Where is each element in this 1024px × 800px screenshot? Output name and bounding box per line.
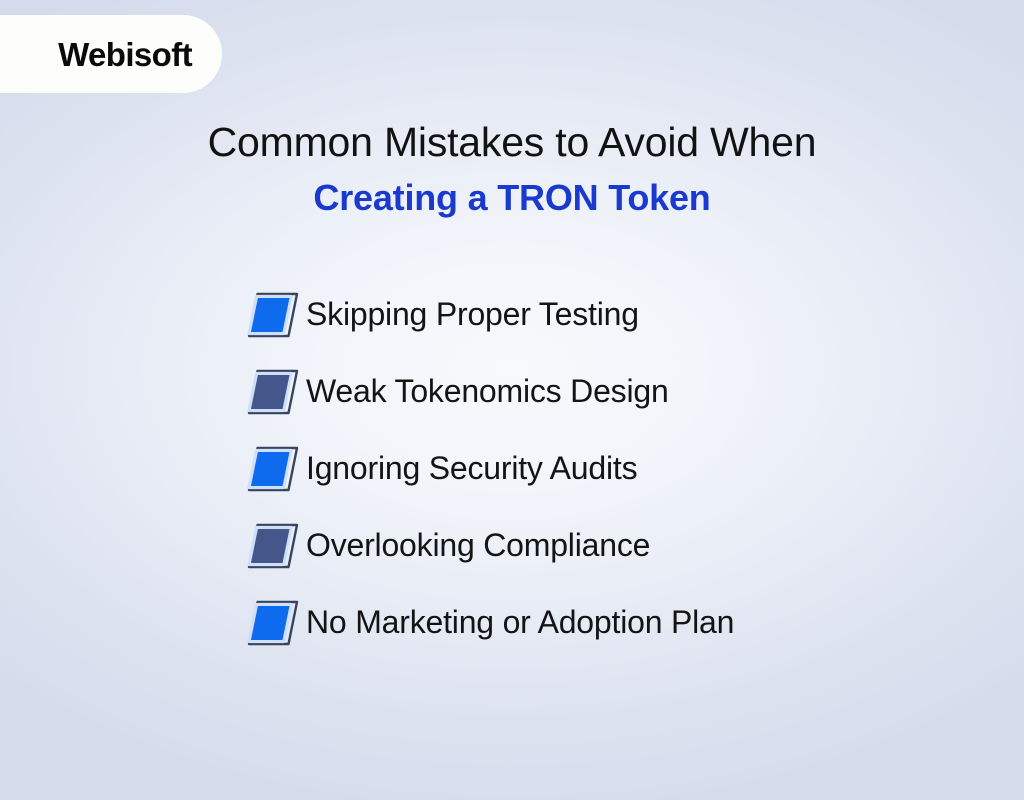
parallelogram-icon	[244, 442, 306, 496]
slide-canvas: Webisoft Common Mistakes to Avoid When C…	[0, 0, 1024, 800]
parallelogram-icon	[244, 288, 306, 342]
list-item-label: No Marketing or Adoption Plan	[306, 605, 734, 640]
list-item-label: Weak Tokenomics Design	[306, 374, 669, 409]
parallelogram-icon	[244, 596, 306, 650]
mistakes-list: Skipping Proper Testing Weak Tokenomics …	[244, 285, 944, 653]
list-item: Ignoring Security Audits	[244, 439, 944, 499]
list-item-label: Overlooking Compliance	[306, 528, 650, 563]
parallelogram-icon	[244, 519, 306, 573]
list-item: Skipping Proper Testing	[244, 285, 944, 345]
brand-logo-pill: Webisoft	[0, 15, 222, 93]
page-title-line-1: Common Mistakes to Avoid When	[0, 118, 1024, 166]
page-title-line-2: Creating a TRON Token	[0, 176, 1024, 219]
page-title: Common Mistakes to Avoid When Creating a…	[0, 118, 1024, 220]
brand-wordmark: Webisoft	[58, 38, 192, 71]
list-item: Weak Tokenomics Design	[244, 362, 944, 422]
list-item: Overlooking Compliance	[244, 516, 944, 576]
list-item: No Marketing or Adoption Plan	[244, 593, 944, 653]
list-item-label: Skipping Proper Testing	[306, 297, 639, 332]
list-item-label: Ignoring Security Audits	[306, 451, 637, 486]
parallelogram-icon	[244, 365, 306, 419]
